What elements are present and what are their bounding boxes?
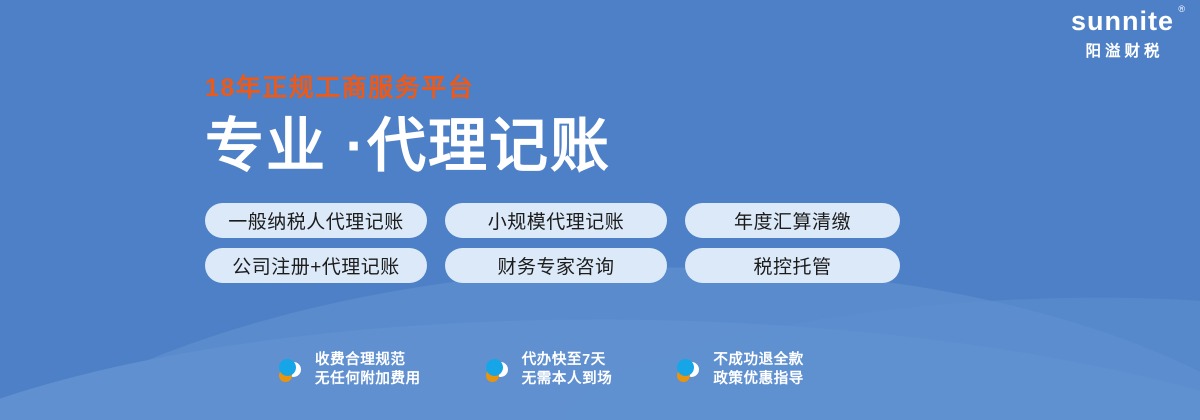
- feature-item-guarantee: 不成功退全款 政策优惠指导: [674, 351, 804, 389]
- eyebrow-text: 18年正规工商服务平台: [205, 76, 611, 101]
- feature-line2-speed: 无需本人到场: [522, 370, 613, 389]
- promo-banner: sunnite ® 阳溢财税 18年正规工商服务平台 专业 ·代理记账 一般纳税…: [0, 0, 1200, 420]
- brand-logo[interactable]: sunnite ® 阳溢财税: [1071, 8, 1174, 60]
- feature-line1-speed: 代办快至7天: [522, 352, 606, 368]
- service-pill-company-registration[interactable]: 公司注册+代理记账: [205, 248, 427, 283]
- service-pill-general-taxpayer[interactable]: 一般纳税人代理记账: [205, 203, 427, 238]
- brand-name-text: sunnite: [1071, 6, 1174, 36]
- service-pill-small-scale[interactable]: 小规模代理记账: [445, 203, 667, 238]
- feature-line2-guarantee: 政策优惠指导: [713, 370, 804, 389]
- feature-strip: 收费合理规范 无任何附加费用 代办快至7天 无需本人到场: [276, 351, 804, 389]
- feature-item-speed: 代办快至7天 无需本人到场: [483, 351, 613, 389]
- service-pill-row-1: 一般纳税人代理记账 小规模代理记账 年度汇算清缴: [205, 203, 905, 238]
- feature-line2-pricing: 无任何附加费用: [315, 370, 421, 389]
- feature-line1-pricing: 收费合理规范: [315, 352, 406, 368]
- service-pill-annual-settlement[interactable]: 年度汇算清缴: [685, 203, 900, 238]
- page-title: 专业 ·代理记账: [205, 117, 611, 176]
- dual-circle-icon: [276, 356, 305, 385]
- headline-block: 18年正规工商服务平台 专业 ·代理记账: [205, 76, 611, 176]
- service-pill-row-2: 公司注册+代理记账 财务专家咨询 税控托管: [205, 248, 905, 283]
- feature-item-pricing: 收费合理规范 无任何附加费用: [276, 351, 421, 389]
- registered-trademark-icon: ®: [1178, 5, 1186, 14]
- feature-text-pricing: 收费合理规范 无任何附加费用: [315, 351, 421, 389]
- service-pill-tax-control-hosting[interactable]: 税控托管: [685, 248, 900, 283]
- dual-circle-icon: [674, 356, 703, 385]
- feature-text-speed: 代办快至7天 无需本人到场: [522, 351, 613, 389]
- feature-line1-guarantee: 不成功退全款: [713, 352, 804, 368]
- brand-chinese-name: 阳溢财税: [1071, 44, 1174, 60]
- service-pill-expert-consulting[interactable]: 财务专家咨询: [445, 248, 667, 283]
- background-ellipse-highlight: [555, 277, 1200, 420]
- brand-wordmark: sunnite ®: [1071, 8, 1174, 35]
- feature-text-guarantee: 不成功退全款 政策优惠指导: [713, 351, 804, 389]
- dual-circle-icon: [483, 356, 512, 385]
- service-pill-group: 一般纳税人代理记账 小规模代理记账 年度汇算清缴 公司注册+代理记账 财务专家咨…: [205, 203, 905, 293]
